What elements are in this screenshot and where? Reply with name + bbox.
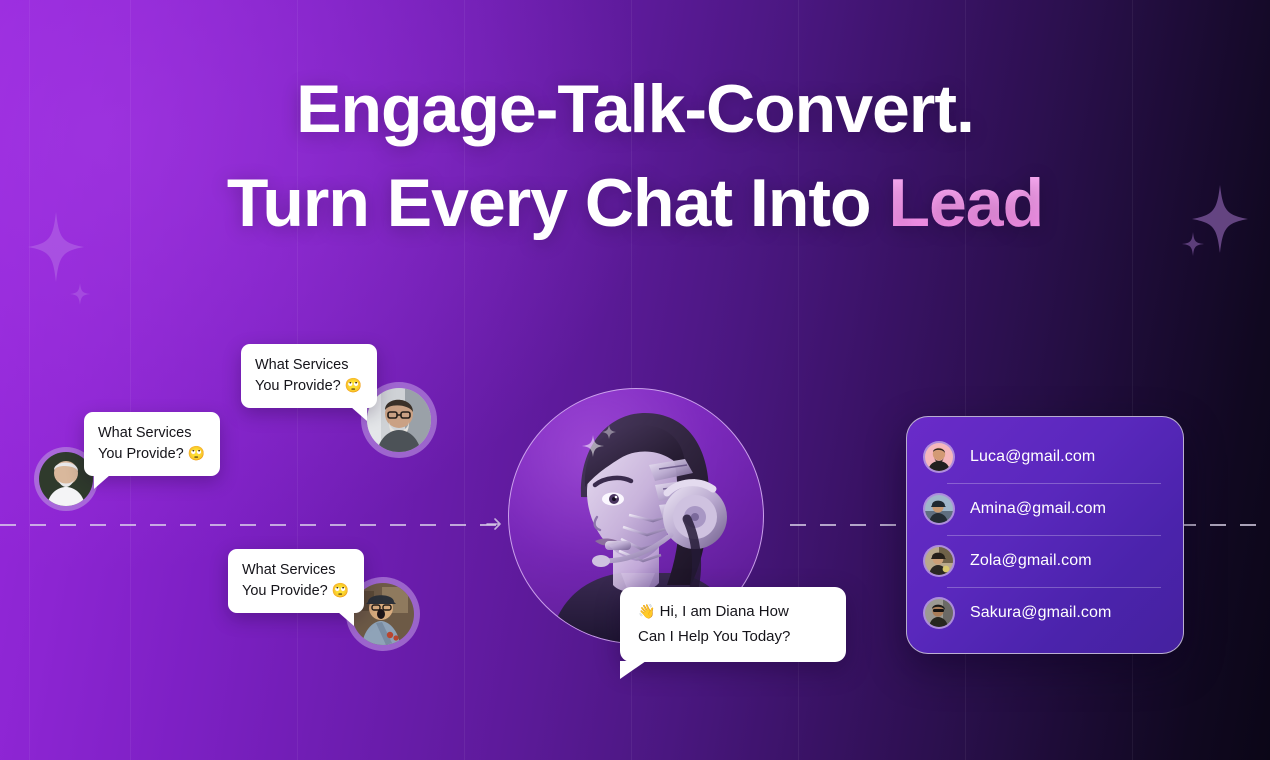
- avatar-photo: [925, 599, 953, 627]
- thinking-face-emoji-icon: 🙄: [188, 445, 205, 461]
- lead-email: Zola@gmail.com: [970, 552, 1092, 570]
- avatar-illustration: [925, 599, 953, 627]
- chat-bubble: What Services You Provide? 🙄: [241, 344, 377, 408]
- avatar-photo: [925, 495, 953, 523]
- sparkle-small-icon: [70, 283, 90, 305]
- headline-accent-word: Lead: [888, 165, 1043, 241]
- assistant-message-line-1: Hi, I am Diana How: [660, 603, 789, 620]
- bubble-tail: [351, 407, 367, 421]
- chat-bubble: What Services You Provide? 🙄: [228, 549, 364, 613]
- headline-line-2-prefix: Turn Every Chat Into: [227, 165, 889, 241]
- lead-list-panel: Luca@gmail.com Amina@gmail.com: [906, 416, 1184, 654]
- list-item[interactable]: Sakura@gmail.com: [923, 587, 1167, 639]
- avatar: [923, 441, 955, 473]
- bubble-tail: [94, 475, 110, 489]
- chat-bubble: What Services You Provide? 🙄: [84, 412, 220, 476]
- chat-bubble-text: What Services You Provide?: [255, 357, 348, 394]
- list-item[interactable]: Amina@gmail.com: [923, 483, 1167, 535]
- assistant-chat-bubble: 👋 Hi, I am Diana How Can I Help You Toda…: [620, 587, 846, 662]
- thinking-face-emoji-icon: 🙄: [332, 582, 349, 598]
- bubble-tail: [338, 612, 354, 626]
- thinking-face-emoji-icon: 🙄: [345, 377, 362, 393]
- avatar-photo: [925, 547, 953, 575]
- avatar-illustration: [925, 443, 953, 471]
- chat-bubble-text: What Services You Provide?: [98, 425, 191, 462]
- waving-hand-emoji-icon: 👋: [638, 603, 655, 619]
- avatar-illustration: [925, 547, 953, 575]
- avatar: [923, 597, 955, 629]
- headline-line-1: Engage-Talk-Convert.: [296, 71, 974, 147]
- avatar: [923, 545, 955, 577]
- flow-arrow-right-icon: [485, 515, 503, 533]
- hero-banner: Engage-Talk-Convert. Turn Every Chat Int…: [0, 0, 1270, 760]
- headline-line-2: Turn Every Chat Into Lead: [0, 156, 1270, 250]
- avatar: [923, 493, 955, 525]
- page-title: Engage-Talk-Convert. Turn Every Chat Int…: [0, 62, 1270, 250]
- assistant-message-line-2: Can I Help You Today?: [638, 628, 790, 645]
- avatar-photo: [925, 443, 953, 471]
- flow-line-left: [0, 524, 505, 526]
- avatar-illustration: [925, 495, 953, 523]
- chat-bubble-text: What Services You Provide?: [242, 562, 335, 599]
- list-item[interactable]: Zola@gmail.com: [923, 535, 1167, 587]
- lead-email: Luca@gmail.com: [970, 448, 1095, 466]
- bubble-tail: [620, 661, 646, 679]
- lead-email: Amina@gmail.com: [970, 500, 1106, 518]
- lead-email: Sakura@gmail.com: [970, 604, 1111, 622]
- list-item[interactable]: Luca@gmail.com: [923, 431, 1167, 483]
